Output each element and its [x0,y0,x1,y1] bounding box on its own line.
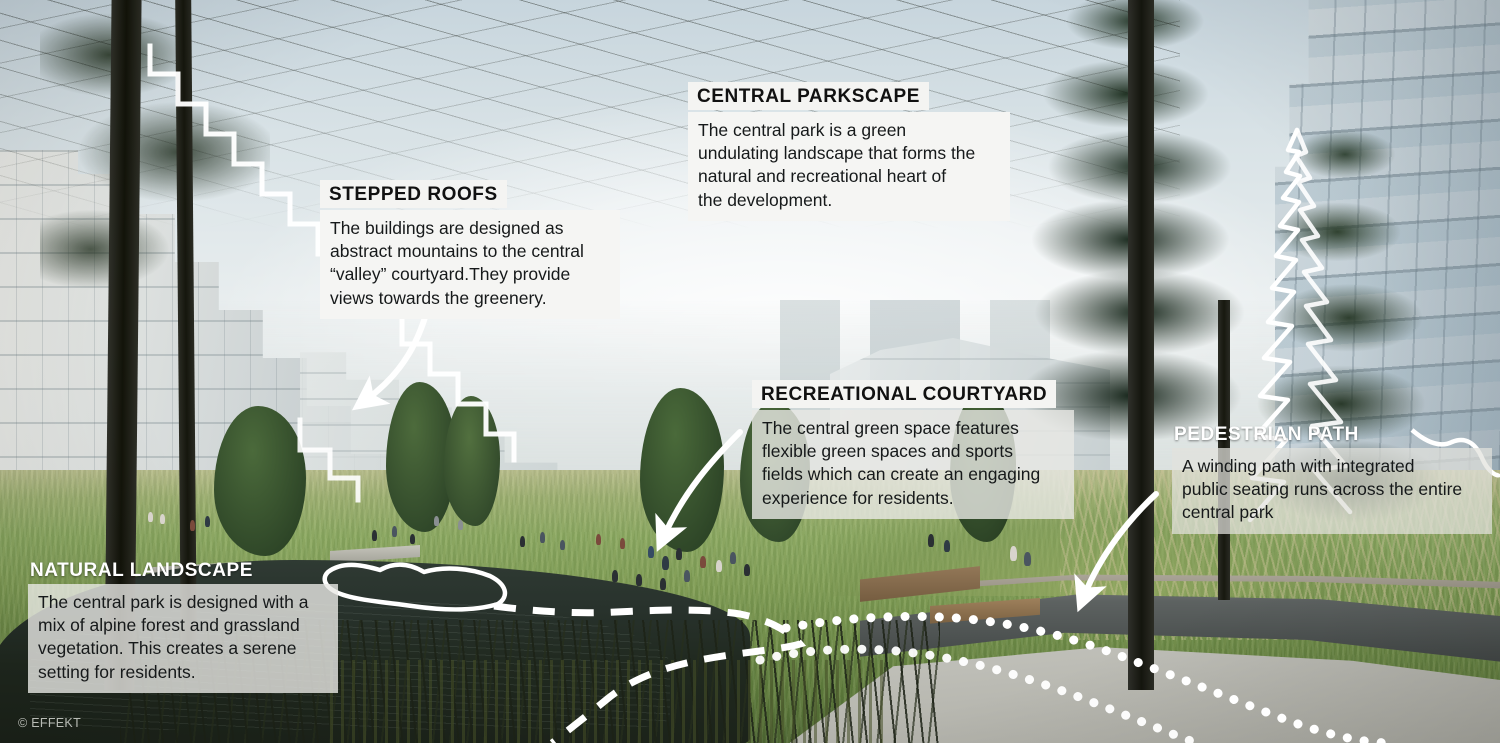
callout-title: NATURAL LANDSCAPE [28,560,338,582]
park-visitor [716,560,722,572]
park-visitor [1010,546,1017,561]
tree-trunk [1128,0,1154,690]
park-visitor [636,574,642,586]
foreground-reeds-secondary [330,660,890,743]
park-visitor [520,536,525,547]
copyright-credit: © EFFEKT [18,716,81,730]
park-visitor [434,516,439,526]
callout-body: The buildings are designed as abstract m… [320,210,620,319]
callout-pedestrian-path: PEDESTRIAN PATH A winding path with inte… [1172,424,1492,534]
park-visitor [676,548,682,560]
park-tree [444,396,500,526]
park-visitor [160,514,165,524]
callout-body: A winding path with integrated public se… [1172,448,1492,534]
callout-central-parkscape: CENTRAL PARKSCAPE The central park is a … [688,82,1010,221]
callout-natural-landscape: NATURAL LANDSCAPE The central park is de… [28,560,338,693]
callout-title: RECREATIONAL COURTYARD [752,380,1056,408]
park-visitor [612,570,618,582]
park-visitor [928,534,934,547]
park-visitor [662,556,669,570]
callout-recreational-courtyard: RECREATIONAL COURTYARD The central green… [752,380,1074,519]
callout-body: The central green space features flexibl… [752,410,1074,519]
park-visitor [372,530,377,541]
callout-body: The central park is a green undulating l… [688,112,1010,221]
park-visitor [148,512,153,522]
park-tree [640,388,724,552]
park-visitor [410,534,415,544]
park-visitor [730,552,736,564]
park-visitor [620,538,625,549]
park-visitor [205,516,210,527]
callout-body: The central park is designed with a mix … [28,584,338,693]
callout-title: CENTRAL PARKSCAPE [688,82,929,110]
park-visitor [744,564,750,576]
rendering-canvas: STEPPED ROOFS The buildings are designed… [0,0,1500,743]
callout-title: STEPPED ROOFS [320,180,507,208]
park-visitor [392,526,397,537]
callout-stepped-roofs: STEPPED ROOFS The buildings are designed… [320,180,620,319]
park-visitor [560,540,565,550]
callout-title: PEDESTRIAN PATH [1172,424,1492,446]
park-visitor [1024,552,1031,566]
park-visitor [944,540,950,552]
park-visitor [700,556,706,568]
park-visitor [540,532,545,543]
park-visitor [648,546,654,558]
park-visitor [596,534,601,545]
park-visitor [684,570,690,582]
park-visitor [458,520,463,530]
park-visitor [660,578,666,590]
park-visitor [190,520,195,531]
